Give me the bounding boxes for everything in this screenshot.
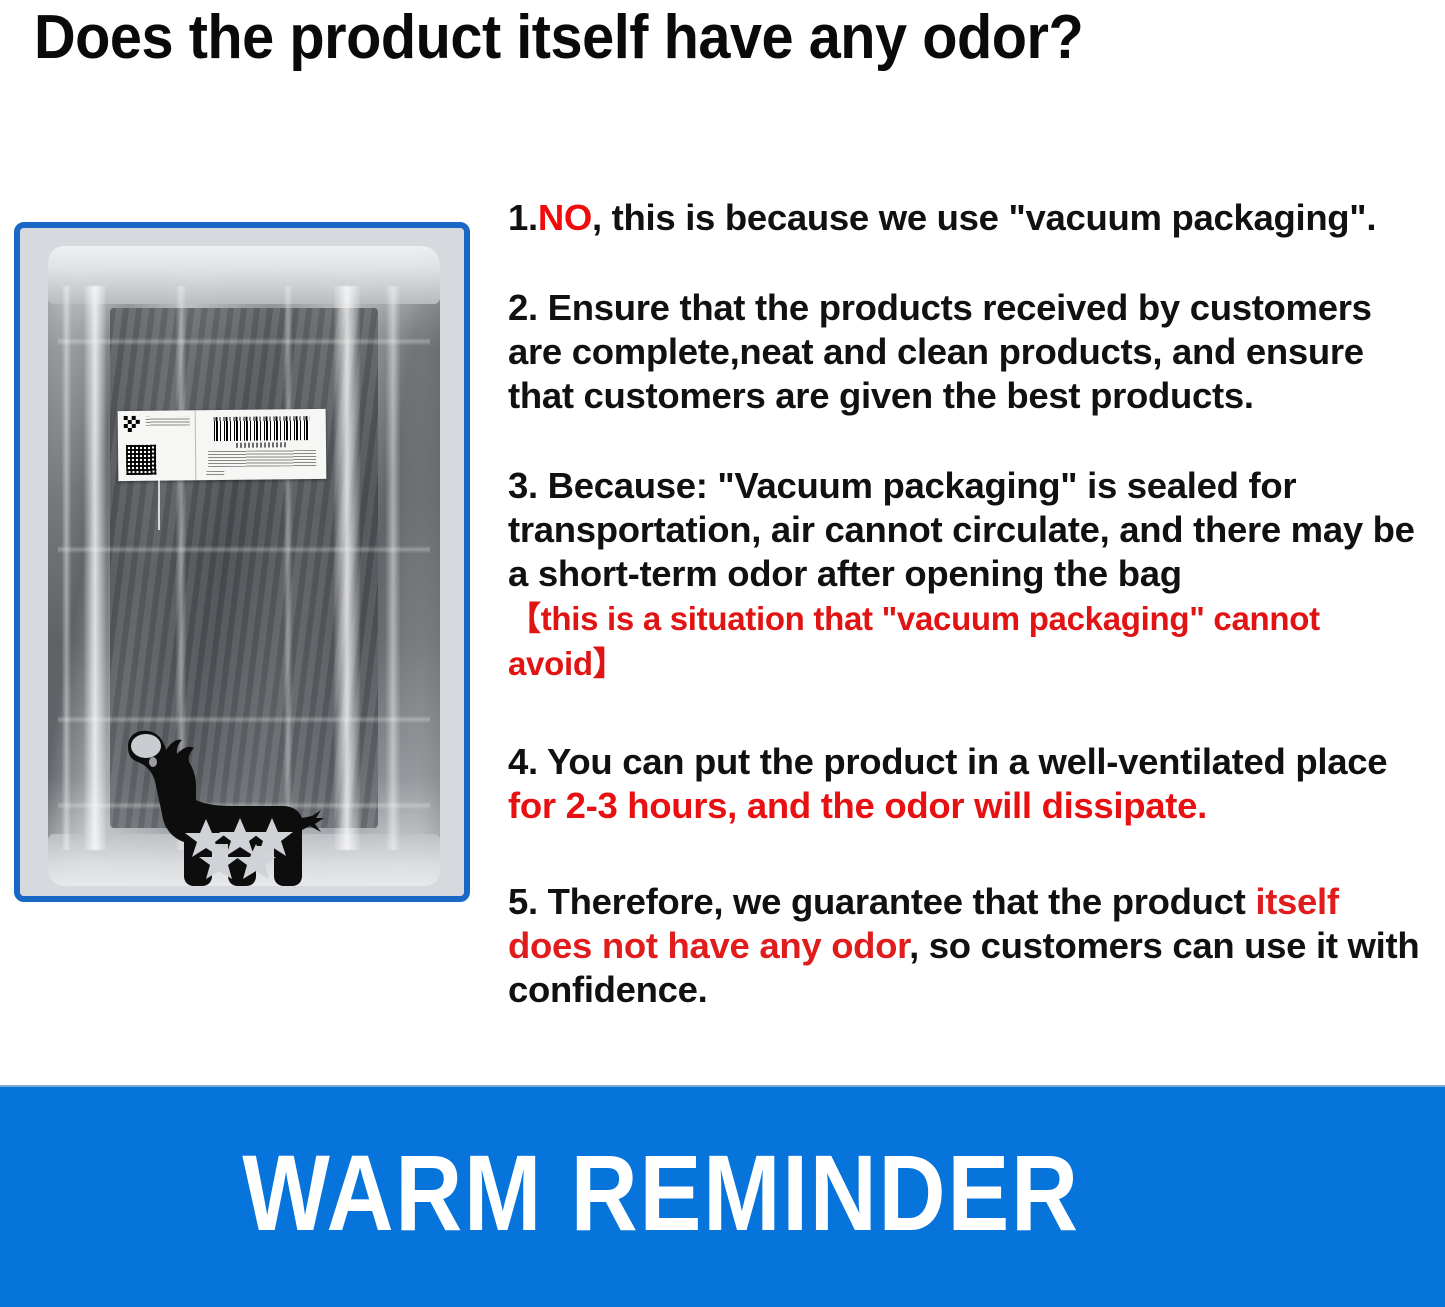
barcode-icon (214, 416, 310, 441)
page-title: Does the product itself have any odor? (34, 2, 1327, 74)
item-1-number: 1. (508, 197, 538, 238)
label-tail (158, 478, 160, 530)
plastic-fold (386, 286, 400, 850)
reminder-item-5: 5. Therefore, we guarantee that the prod… (508, 880, 1420, 1012)
bag-seal-top (48, 246, 440, 304)
banner-title: WARM REMINDER (93, 1137, 1230, 1249)
warm-reminder-banner: WARM REMINDER (0, 1085, 1445, 1307)
reminder-item-3: 3. Because: "Vacuum packaging" is sealed… (508, 464, 1420, 686)
item-1-body: this is because we use "vacuum packaging… (602, 197, 1376, 238)
label-description-text (208, 450, 316, 467)
product-image-frame: Zebricolo® (14, 222, 470, 902)
label-right-panel (196, 409, 327, 480)
plastic-fold (62, 286, 71, 850)
product-photo: Zebricolo® (20, 228, 464, 896)
barcode-number-text (236, 442, 288, 448)
reminder-text-column: 1.NO, this is because we use "vacuum pac… (508, 196, 1420, 1012)
zebricolo-zebra-logo-icon (116, 726, 366, 902)
qr-code-icon (126, 445, 156, 475)
datamatrix-code-icon (124, 416, 140, 432)
item-1-comma: , (592, 197, 602, 238)
label-footer-text (206, 471, 224, 475)
item-3-red-note: 【this is a situation that "vacuum packag… (508, 600, 1320, 682)
item-4-red-emphasis: for 2-3 hours, and the odor will dissipa… (508, 785, 1207, 826)
label-left-panel (118, 410, 197, 481)
reminder-item-1: 1.NO, this is because we use "vacuum pac… (508, 196, 1420, 240)
item-2-body: 2. Ensure that the products received by … (508, 287, 1372, 416)
shipping-label (118, 409, 327, 481)
reminder-item-4: 4. You can put the product in a well-ven… (508, 740, 1420, 828)
plastic-fold (84, 286, 106, 850)
label-address-text (146, 416, 190, 425)
item-5-body-start: 5. Therefore, we guarantee that the prod… (508, 881, 1255, 922)
item-3-body: 3. Because: "Vacuum packaging" is sealed… (508, 465, 1415, 594)
item-1-no-emphasis: NO (538, 197, 592, 238)
plastic-fold (58, 716, 430, 723)
reminder-item-2: 2. Ensure that the products received by … (508, 286, 1420, 418)
item-4-body: 4. You can put the product in a well-ven… (508, 741, 1387, 782)
plastic-fold (58, 546, 430, 553)
plastic-fold (58, 338, 430, 345)
